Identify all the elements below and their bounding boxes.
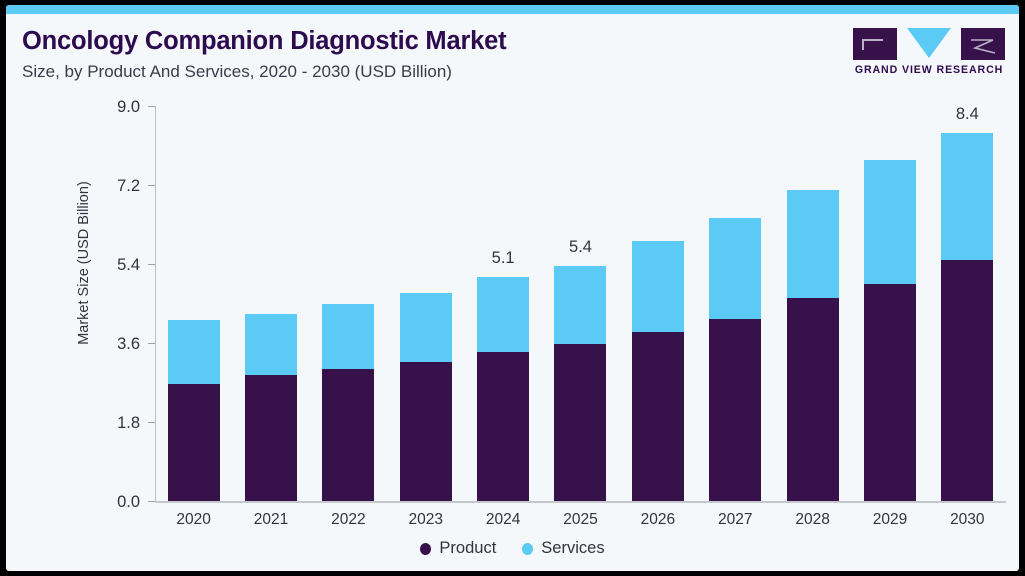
bar-stack-2022[interactable] (322, 304, 374, 501)
legend-swatch-services (522, 543, 533, 555)
bar-stack-2029[interactable] (864, 160, 916, 501)
x-tick-label-2023: 2023 (386, 511, 466, 529)
x-tick-label-2027: 2027 (695, 511, 775, 529)
bar-segment-product[interactable] (322, 369, 374, 501)
bar-segment-services[interactable] (632, 241, 684, 332)
y-tick-label: 0.0 (94, 493, 140, 512)
bar-segment-product[interactable] (709, 319, 761, 501)
bar-segment-product[interactable] (941, 260, 993, 501)
bar-segment-services[interactable] (787, 190, 839, 298)
x-tick-label-2030: 2030 (927, 511, 1007, 529)
bar-stack-2025[interactable] (554, 266, 606, 501)
bar-segment-services[interactable] (941, 133, 993, 260)
bar-segment-product[interactable] (400, 362, 452, 501)
x-axis-line (155, 501, 1006, 503)
x-tick-label-2025: 2025 (541, 511, 621, 529)
bar-segment-product[interactable] (245, 375, 297, 501)
bar-segment-services[interactable] (864, 160, 916, 284)
bar-stack-2021[interactable] (245, 314, 297, 501)
bar-segment-product[interactable] (632, 332, 684, 501)
y-tick-mark (148, 501, 155, 502)
bar-stack-2026[interactable] (632, 241, 684, 501)
x-tick-label-2024: 2024 (463, 511, 543, 529)
x-tick-label-2026: 2026 (618, 511, 698, 529)
bar-stack-2028[interactable] (787, 190, 839, 501)
bar-stack-2030[interactable] (941, 133, 993, 501)
chart-plot-area: Market Size (USD Billion) 9.0 7.2 5.4 3.… (6, 5, 1019, 571)
legend-swatch-product (420, 543, 431, 555)
y-tick-label: 9.0 (94, 98, 140, 117)
bar-segment-product[interactable] (168, 384, 220, 501)
bar-segment-services[interactable] (168, 320, 220, 384)
legend-label-services: Services (541, 539, 604, 558)
x-tick-label-2028: 2028 (773, 511, 853, 529)
bar-segment-product[interactable] (477, 352, 529, 501)
chart-card: Oncology Companion Diagnostic Market Siz… (6, 5, 1019, 571)
bar-segment-product[interactable] (864, 284, 916, 501)
bar-stack-2023[interactable] (400, 293, 452, 501)
bar-value-label-2030: 8.4 (927, 105, 1007, 124)
bar-segment-services[interactable] (322, 304, 374, 369)
legend-item-product[interactable]: Product (420, 539, 496, 558)
x-tick-label-2029: 2029 (850, 511, 930, 529)
bar-segment-services[interactable] (709, 218, 761, 319)
bar-stack-2027[interactable] (709, 218, 761, 501)
chart-window: Oncology Companion Diagnostic Market Siz… (0, 0, 1025, 576)
y-axis-line (155, 106, 156, 502)
y-tick-mark (148, 106, 155, 107)
y-tick-label: 1.8 (94, 414, 140, 433)
bar-segment-services[interactable] (245, 314, 297, 375)
x-tick-label-2020: 2020 (154, 511, 234, 529)
chart-legend: Product Services (6, 539, 1019, 558)
bar-stack-2020[interactable] (168, 320, 220, 501)
y-tick-mark (148, 422, 155, 423)
legend-item-services[interactable]: Services (522, 539, 604, 558)
legend-label-product: Product (439, 539, 496, 558)
bar-segment-product[interactable] (787, 298, 839, 501)
bar-segment-services[interactable] (400, 293, 452, 362)
y-tick-label: 5.4 (94, 256, 140, 275)
y-tick-mark (148, 185, 155, 186)
y-tick-label: 7.2 (94, 177, 140, 196)
y-tick-mark (148, 343, 155, 344)
y-tick-label: 3.6 (94, 335, 140, 354)
y-tick-mark (148, 264, 155, 265)
bar-segment-services[interactable] (554, 266, 606, 344)
bar-segment-product[interactable] (554, 344, 606, 501)
bar-value-label-2024: 5.1 (463, 249, 543, 268)
bar-stack-2024[interactable] (477, 277, 529, 501)
x-tick-label-2021: 2021 (231, 511, 311, 529)
x-tick-label-2022: 2022 (308, 511, 388, 529)
bar-value-label-2025: 5.4 (541, 238, 621, 257)
bar-segment-services[interactable] (477, 277, 529, 352)
y-axis-label: Market Size (USD Billion) (76, 163, 92, 363)
